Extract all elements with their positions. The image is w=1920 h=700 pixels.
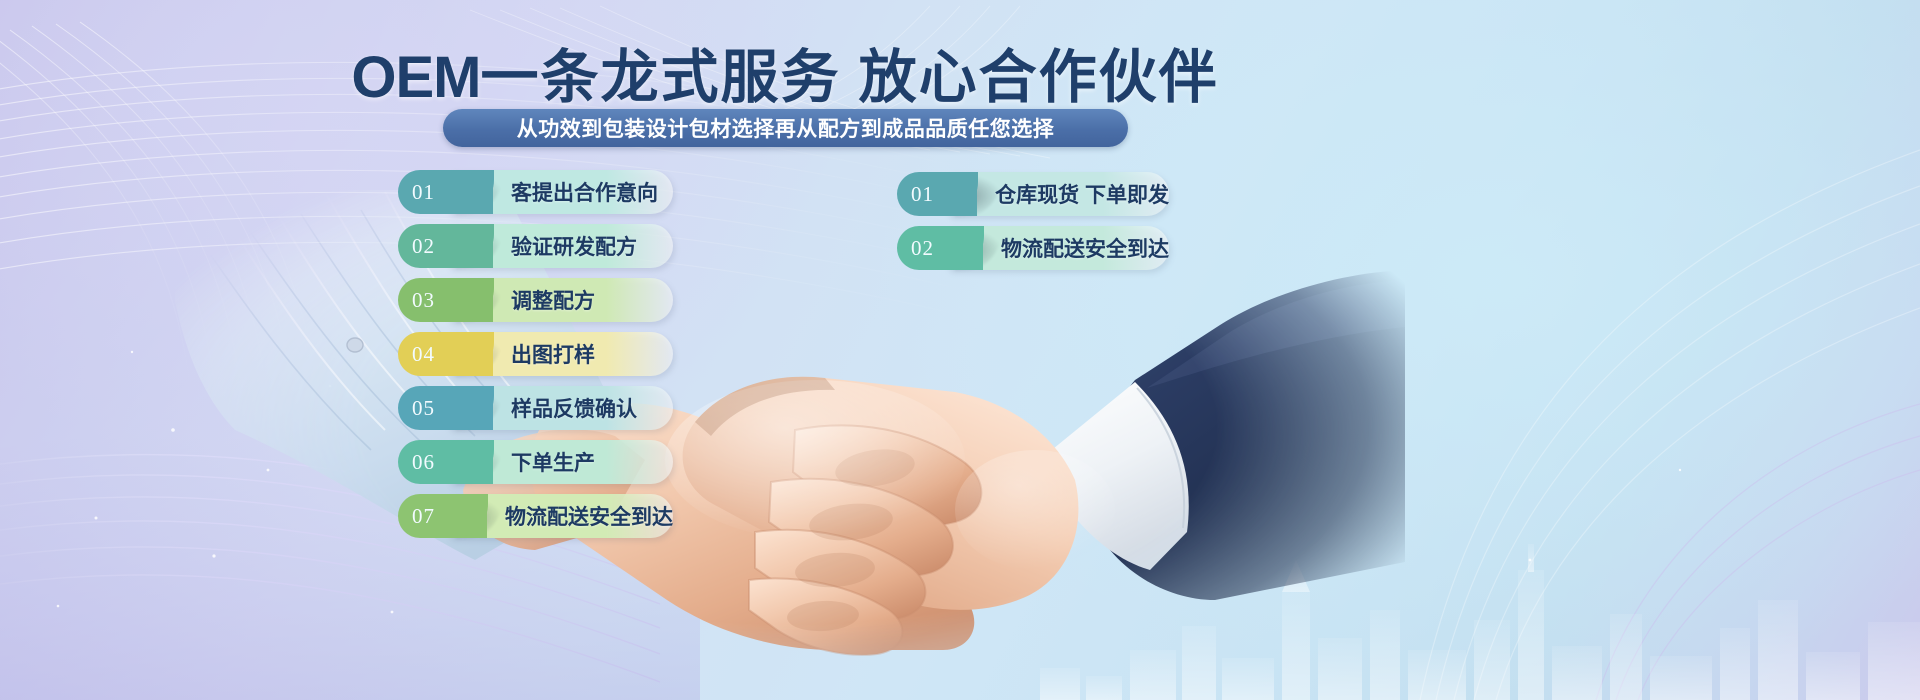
step-number-text: 02 — [911, 236, 934, 261]
step-number-text: 02 — [412, 234, 435, 259]
step-number-text: 01 — [412, 180, 435, 205]
subtitle-text: 从功效到包装设计包材选择再从配方到成品品质任您选择 — [517, 113, 1055, 143]
step-number-badge: 07 — [398, 494, 487, 538]
step-number-badge: 02 — [398, 224, 493, 268]
process-step-right-02: 02物流配送安全到达 — [897, 226, 1169, 270]
step-label-text: 仓库现货 下单即发 — [995, 172, 1169, 216]
process-steps-right-column: 01仓库现货 下单即发02物流配送安全到达 — [897, 172, 1169, 280]
step-number-badge: 04 — [398, 332, 493, 376]
step-number-text: 07 — [412, 504, 435, 529]
step-label-text: 物流配送安全到达 — [505, 494, 673, 538]
step-label-text: 调整配方 — [511, 278, 595, 322]
subtitle-banner: 从功效到包装设计包材选择再从配方到成品品质任您选择 — [443, 109, 1128, 147]
process-step-left-05: 05样品反馈确认 — [398, 386, 673, 430]
title-rest-text: 一条龙式服务 放心合作伙伴 — [481, 45, 1219, 110]
step-number-text: 01 — [911, 182, 934, 207]
step-number-text: 06 — [412, 450, 435, 475]
step-label-text: 客提出合作意向 — [511, 170, 658, 214]
step-number-text: 05 — [412, 396, 435, 421]
process-step-left-06: 06下单生产 — [398, 440, 673, 484]
handshake-photo — [175, 130, 1405, 700]
process-step-left-02: 02验证研发配方 — [398, 224, 673, 268]
step-number-badge: 06 — [398, 440, 493, 484]
process-step-left-04: 04出图打样 — [398, 332, 673, 376]
step-label-text: 验证研发配方 — [511, 224, 637, 268]
step-label-text: 出图打样 — [511, 332, 595, 376]
step-label-text: 样品反馈确认 — [511, 386, 637, 430]
step-label-text: 物流配送安全到达 — [1001, 226, 1169, 270]
process-step-left-03: 03调整配方 — [398, 278, 673, 322]
process-step-left-01: 01客提出合作意向 — [398, 170, 673, 214]
step-number-badge: 01 — [398, 170, 493, 214]
process-step-left-07: 07物流配送安全到达 — [398, 494, 673, 538]
step-number-badge: 03 — [398, 278, 493, 322]
step-number-text: 04 — [412, 342, 435, 367]
step-label-text: 下单生产 — [511, 440, 595, 484]
step-number-text: 03 — [412, 288, 435, 313]
process-step-right-01: 01仓库现货 下单即发 — [897, 172, 1169, 216]
process-steps-left-column: 01客提出合作意向02验证研发配方03调整配方04出图打样05样品反馈确认06下… — [398, 170, 673, 548]
step-number-badge: 05 — [398, 386, 493, 430]
page-title: OEM一条龙式服务 放心合作伙伴 — [0, 30, 1570, 114]
step-number-badge: 01 — [897, 172, 977, 216]
title-oem-text: OEM — [351, 45, 480, 110]
oem-service-banner: OEM一条龙式服务 放心合作伙伴 从功效到包装设计包材选择再从配方到成品品质任您… — [0, 0, 1920, 700]
step-number-badge: 02 — [897, 226, 983, 270]
